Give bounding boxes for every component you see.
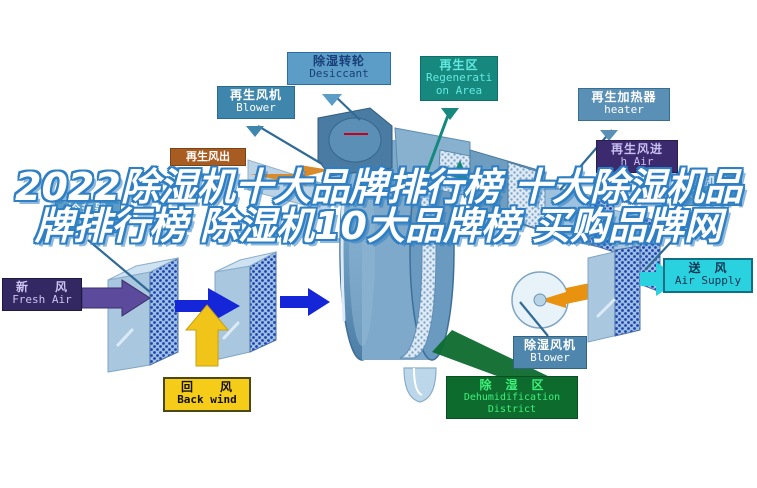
- label-fresh-air: 新 风 Fresh Air: [2, 278, 82, 311]
- label-back-wind: 回 风 Back wind: [163, 377, 251, 412]
- label-regen-blower: 再生风机 Blower: [217, 86, 295, 119]
- label-fresh-air-en: Fresh Air: [8, 294, 76, 306]
- label-regen-heater-en: heater: [584, 104, 664, 116]
- label-dehumidification-district-cn: 除 湿 区: [452, 379, 572, 392]
- label-regeneration-area-cn: 再生区: [426, 59, 492, 72]
- label-back-wind-en: Back wind: [170, 394, 244, 406]
- label-dehumidification-district-en: Dehumidification District: [452, 392, 572, 414]
- label-regeneration-area-tail: [441, 108, 459, 120]
- label-desiccant-rotor: 除湿转轮 Desiccant: [287, 52, 391, 85]
- label-dehumidification-district: 除 湿 区 Dehumidification District: [446, 376, 578, 419]
- label-desiccant-rotor-cn: 除湿转轮: [293, 55, 385, 68]
- label-regen-air-out: 再生风出: [170, 148, 246, 166]
- overlay-headline: 2022除湿机十大品牌排行榜 十大除湿机品牌排行榜 除湿机10大品牌榜 买购品牌…: [0, 168, 757, 246]
- label-regen-blower-cn: 再生风机: [223, 89, 289, 102]
- label-regen-heater: 再生加热器 heater: [578, 88, 670, 121]
- label-desiccant-rotor-en: Desiccant: [293, 68, 385, 80]
- label-regen-air-out-cn: 再生风出: [173, 151, 243, 163]
- label-air-supply: 送 风 Air Supply: [663, 258, 753, 293]
- label-dehumid-blower-cn: 除湿风机: [519, 339, 581, 352]
- label-regeneration-area-en: Regenerati on Area: [426, 72, 492, 97]
- label-back-wind-cn: 回 风: [170, 381, 244, 394]
- label-air-supply-cn: 送 风: [670, 262, 746, 275]
- label-regen-blower-en: Blower: [223, 102, 289, 114]
- screenshot-root: 除湿转轮 Desiccant 再生风机 Blower 再生区 Regenerat…: [0, 0, 757, 488]
- label-regen-heater-cn: 再生加热器: [584, 91, 664, 104]
- label-fresh-air-cn: 新 风: [8, 281, 76, 294]
- label-dehumid-blower-en: Blower: [519, 352, 581, 364]
- label-regen-blower-tail: [246, 126, 264, 137]
- label-regen-air-in-cn: 再生风进: [602, 143, 672, 156]
- label-dehumid-blower: 除湿风机 Blower: [513, 336, 587, 369]
- label-regeneration-area: 再生区 Regenerati on Area: [420, 56, 498, 101]
- label-air-supply-en: Air Supply: [670, 275, 746, 287]
- label-desiccant-rotor-tail: [322, 94, 342, 106]
